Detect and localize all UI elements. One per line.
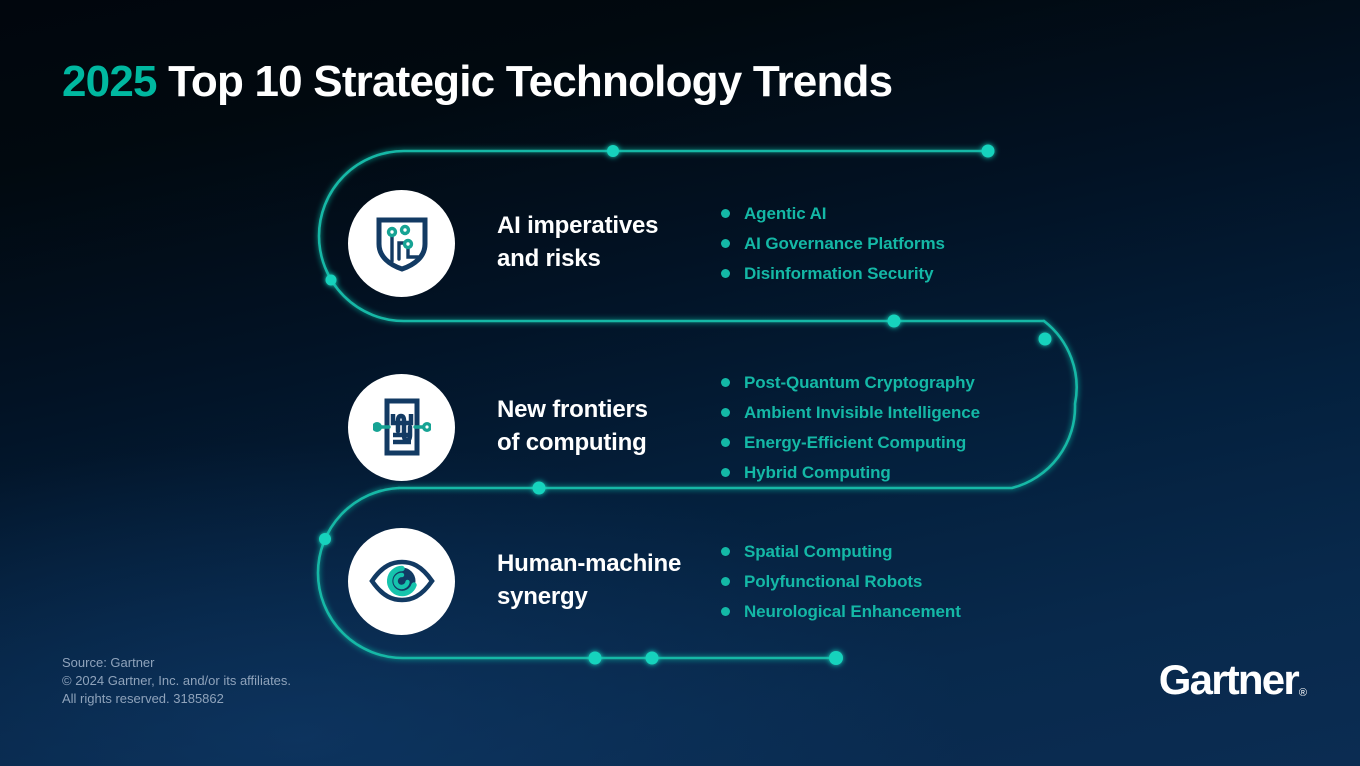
trend-label: Disinformation Security bbox=[744, 265, 933, 282]
bullet-dot-icon bbox=[721, 408, 730, 417]
bullet-dot-icon bbox=[721, 378, 730, 387]
trend-label: Agentic AI bbox=[744, 205, 826, 222]
trend-section-ai-imperatives-and-risks[interactable]: AI imperatives and risks Agentic AI AI G… bbox=[348, 182, 945, 304]
section-title-line-1: Human-machine bbox=[497, 550, 681, 577]
infographic-canvas: 2025 Top 10 Strategic Technology Trends bbox=[0, 0, 1360, 766]
list-item[interactable]: Neurological Enhancement bbox=[721, 596, 961, 626]
trend-section-new-frontiers-of-computing[interactable]: New frontiers of computing Post-Quantum … bbox=[348, 351, 980, 503]
node-dot bbox=[646, 652, 659, 665]
node-dot bbox=[1039, 333, 1052, 346]
bullet-dot-icon bbox=[721, 438, 730, 447]
trend-label: Hybrid Computing bbox=[744, 464, 891, 481]
trend-section-human-machine-synergy[interactable]: Human-machine synergy Spatial Computing … bbox=[348, 520, 961, 642]
shield-circuit-icon bbox=[374, 213, 430, 273]
eye-icon bbox=[369, 559, 435, 603]
bullet-dot-icon bbox=[721, 209, 730, 218]
trend-list: Post-Quantum Cryptography Ambient Invisi… bbox=[721, 367, 980, 487]
list-item[interactable]: Agentic AI bbox=[721, 198, 945, 228]
bullet-dot-icon bbox=[721, 547, 730, 556]
rights-line: All rights reserved. 3185862 bbox=[62, 690, 291, 708]
section-title-line-1: New frontiers bbox=[497, 396, 648, 423]
bullet-dot-icon bbox=[721, 468, 730, 477]
section-title-line-2: and risks bbox=[497, 245, 601, 272]
section-icon-badge bbox=[348, 374, 455, 481]
section-title: Human-machine synergy bbox=[497, 548, 707, 613]
source-line: Source: Gartner bbox=[62, 654, 291, 672]
section-title-line-2: of computing bbox=[497, 429, 647, 456]
trend-list: Agentic AI AI Governance Platforms Disin… bbox=[721, 198, 945, 288]
trend-label: Polyfunctional Robots bbox=[744, 573, 922, 590]
section-title: AI imperatives and risks bbox=[497, 210, 707, 275]
bullet-dot-icon bbox=[721, 577, 730, 586]
page-title: 2025 Top 10 Strategic Technology Trends bbox=[62, 58, 892, 106]
bullet-dot-icon bbox=[721, 239, 730, 248]
bullet-dot-icon bbox=[721, 607, 730, 616]
list-item[interactable]: Polyfunctional Robots bbox=[721, 566, 961, 596]
trend-label: Ambient Invisible Intelligence bbox=[744, 404, 980, 421]
copyright-line: © 2024 Gartner, Inc. and/or its affiliat… bbox=[62, 672, 291, 690]
gartner-logo: Gartner® bbox=[1159, 656, 1306, 704]
section-title: New frontiers of computing bbox=[497, 394, 707, 459]
node-dot bbox=[326, 275, 337, 286]
trend-label: AI Governance Platforms bbox=[744, 235, 945, 252]
list-item[interactable]: Hybrid Computing bbox=[721, 457, 980, 487]
list-item[interactable]: AI Governance Platforms bbox=[721, 228, 945, 258]
gartner-logo-text: Gartner bbox=[1159, 656, 1298, 703]
processor-chip-icon bbox=[373, 397, 431, 457]
section-icon-badge bbox=[348, 528, 455, 635]
trend-label: Post-Quantum Cryptography bbox=[744, 374, 975, 391]
section-title-line-1: AI imperatives bbox=[497, 212, 658, 239]
bullet-dot-icon bbox=[721, 269, 730, 278]
node-dot bbox=[888, 315, 901, 328]
section-title-line-2: synergy bbox=[497, 583, 588, 610]
list-item[interactable]: Disinformation Security bbox=[721, 258, 945, 288]
list-item[interactable]: Energy-Efficient Computing bbox=[721, 427, 980, 457]
list-item[interactable]: Ambient Invisible Intelligence bbox=[721, 397, 980, 427]
trend-label: Spatial Computing bbox=[744, 543, 892, 560]
title-year: 2025 bbox=[62, 57, 157, 106]
source-attribution: Source: Gartner © 2024 Gartner, Inc. and… bbox=[62, 654, 291, 708]
node-dot bbox=[607, 145, 619, 157]
trend-label: Neurological Enhancement bbox=[744, 603, 961, 620]
trend-label: Energy-Efficient Computing bbox=[744, 434, 966, 451]
node-dot bbox=[319, 533, 331, 545]
trend-list: Spatial Computing Polyfunctional Robots … bbox=[721, 536, 961, 626]
node-dot bbox=[982, 145, 995, 158]
list-item[interactable]: Post-Quantum Cryptography bbox=[721, 367, 980, 397]
node-dot bbox=[829, 651, 843, 665]
list-item[interactable]: Spatial Computing bbox=[721, 536, 961, 566]
title-text: Top 10 Strategic Technology Trends bbox=[157, 57, 893, 106]
node-dot bbox=[589, 652, 602, 665]
section-icon-badge bbox=[348, 190, 455, 297]
registered-trademark-icon: ® bbox=[1299, 687, 1307, 699]
